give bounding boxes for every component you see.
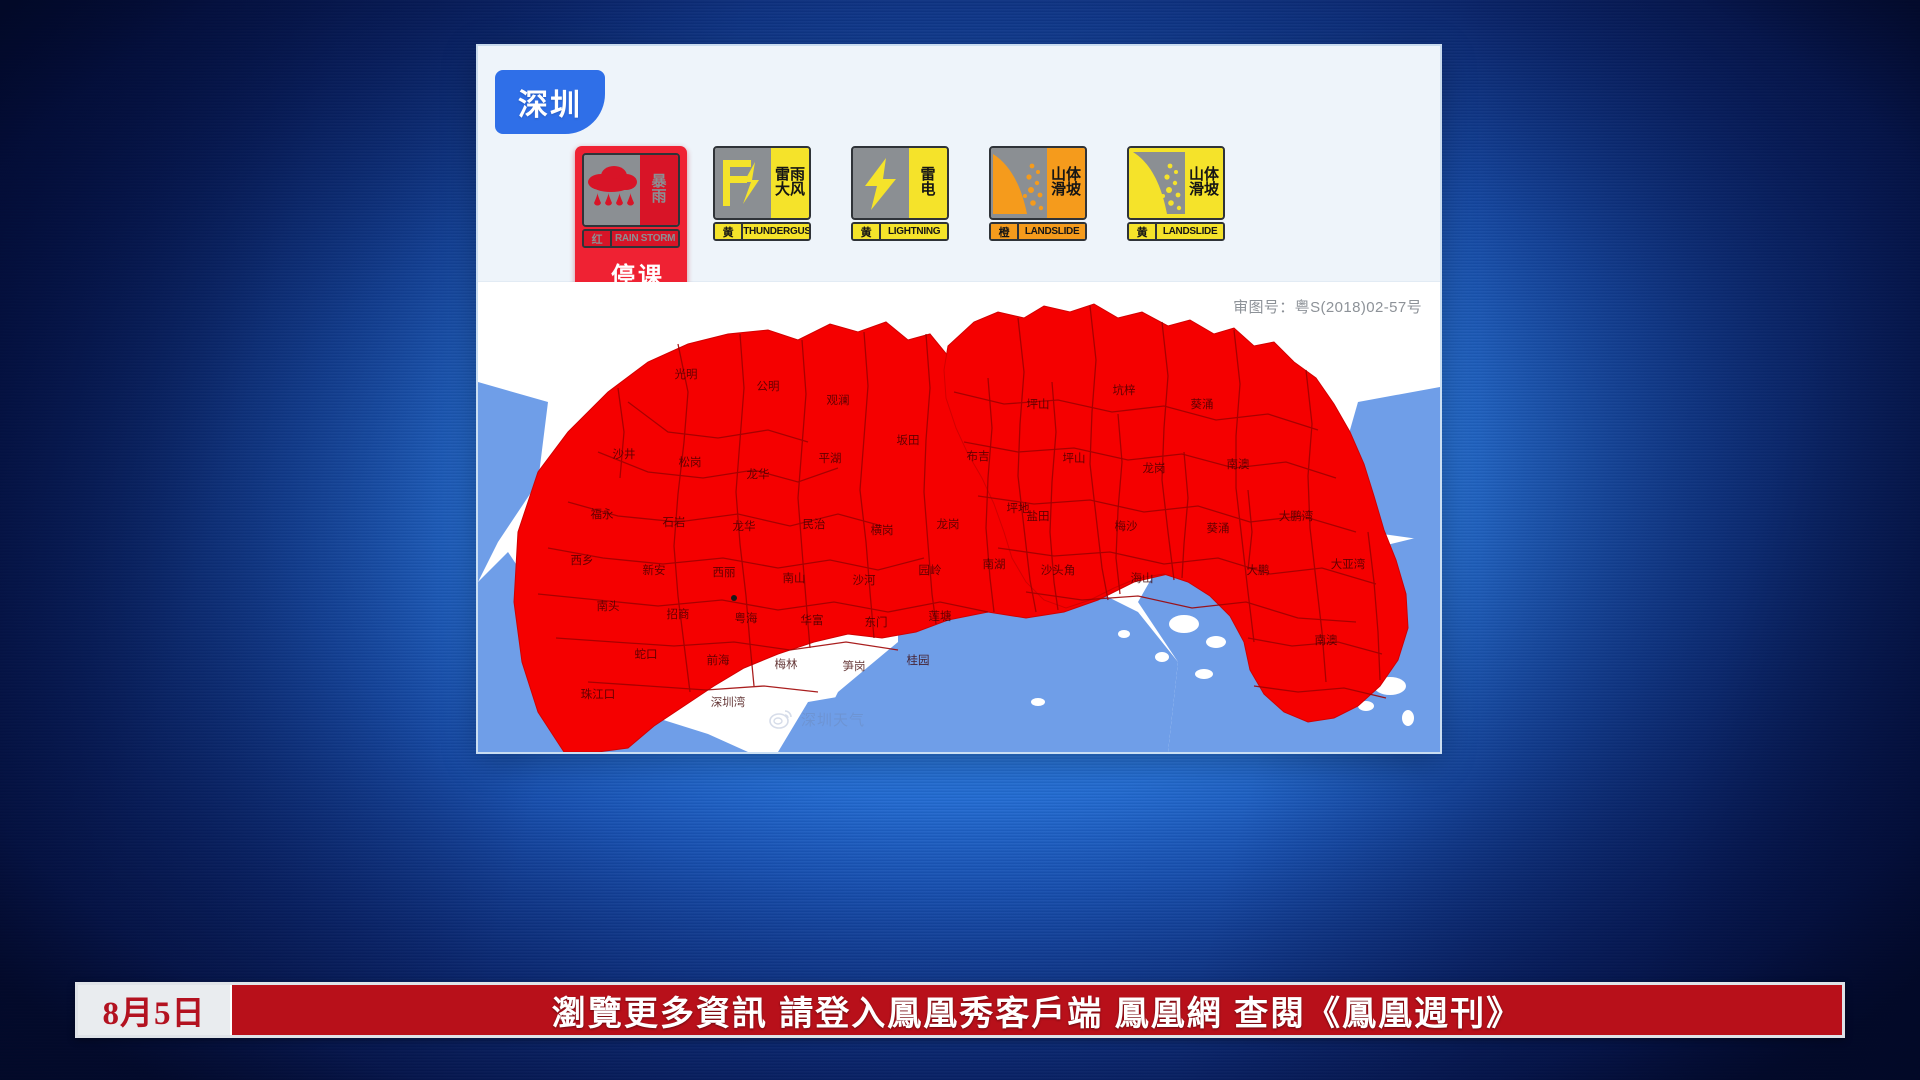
badge-footer: 橙 LANDSLIDE — [989, 222, 1087, 241]
badge-footer: 黄 LANDSLIDE — [1127, 222, 1225, 241]
svg-text:西丽: 西丽 — [713, 565, 736, 579]
svg-text:石岩: 石岩 — [663, 515, 686, 529]
svg-text:坑梓: 坑梓 — [1113, 383, 1136, 397]
rain-cloud-icon — [584, 155, 640, 225]
map-canvas: 光明 公明 观澜 沙井 松岗 龙华 平湖 坂田 布吉 福永 石岩 龙华 民治 横… — [478, 282, 1440, 752]
alert-badge-thundergust-yellow[interactable]: 雷 大 雨 风 黄 THUNDERGUST — [713, 146, 825, 241]
badge-name-line-2: 滑坡 — [1051, 183, 1081, 198]
badge-plate: 雷 电 — [851, 146, 949, 220]
thunder-gust-icon — [715, 148, 771, 218]
svg-text:招商: 招商 — [667, 607, 690, 621]
alert-badge-landslide-yellow[interactable]: 山体 滑坡 黄 LANDSLIDE — [1127, 146, 1239, 241]
svg-text:大亚湾: 大亚湾 — [1331, 557, 1366, 571]
badge-plate: 山体 滑坡 — [989, 146, 1087, 220]
badge-level-cn: 黄 — [853, 224, 881, 239]
svg-text:坪山: 坪山 — [1027, 397, 1050, 411]
svg-text:大鹏湾: 大鹏湾 — [1279, 509, 1314, 523]
badge-name-cn: 山体 滑坡 — [1047, 148, 1085, 218]
map-point-marker — [731, 595, 737, 601]
svg-text:民治: 民治 — [803, 517, 826, 531]
badge-level-en: LIGHTNING — [881, 224, 947, 239]
svg-text:坪山: 坪山 — [1063, 451, 1086, 465]
badge-level-en: RAIN STORM — [612, 231, 678, 246]
badge-level-cn: 黄 — [715, 224, 743, 239]
svg-text:粤海: 粤海 — [735, 611, 758, 625]
alert-badge-lightning-yellow[interactable]: 雷 电 黄 LIGHTNING — [851, 146, 963, 241]
lightning-bolt-icon — [853, 148, 909, 218]
badge-level-en: THUNDERGUST — [743, 224, 811, 239]
badge-plate: 山体 滑坡 — [1127, 146, 1225, 220]
badge-name-c12: 大 — [775, 183, 790, 198]
svg-text:沙井: 沙井 — [613, 447, 636, 461]
badge-name-cn: 雷 大 雨 风 — [771, 148, 809, 218]
landslide-icon — [991, 148, 1047, 218]
svg-text:笋岗: 笋岗 — [843, 659, 866, 673]
badge-name-cn: 暴 雨 — [640, 155, 678, 225]
svg-text:横岗: 横岗 — [871, 523, 894, 537]
landslide-icon — [1129, 148, 1185, 218]
svg-text:南澳: 南澳 — [1227, 457, 1250, 471]
svg-text:葵涌: 葵涌 — [1191, 397, 1214, 411]
svg-text:南湖: 南湖 — [983, 557, 1006, 571]
svg-text:沙头角: 沙头角 — [1041, 563, 1076, 577]
badge-footer: 红 RAIN STORM — [582, 229, 680, 248]
city-tab-label: 深圳 — [518, 80, 582, 124]
badge-name-c22: 风 — [790, 183, 805, 198]
svg-text:南山: 南山 — [783, 571, 806, 585]
badge-name-col-2: 雨 风 — [790, 168, 805, 197]
svg-text:大鹏: 大鹏 — [1247, 563, 1270, 577]
ticker-date-badge: 8月5日 — [78, 985, 230, 1035]
svg-text:龙岗: 龙岗 — [1143, 461, 1166, 475]
weibo-watermark: 深圳天气 — [768, 708, 865, 730]
svg-text:沙河: 沙河 — [853, 573, 876, 587]
warning-badge-row: 暴 雨 红 RAIN STORM 停课 — [575, 146, 1239, 293]
svg-text:莲塘: 莲塘 — [929, 609, 952, 623]
svg-text:观澜: 观澜 — [827, 393, 850, 407]
badge-name-col-1: 雷 大 — [775, 168, 790, 197]
svg-text:布吉: 布吉 — [967, 449, 990, 463]
alert-badge-rainstorm-red[interactable]: 暴 雨 红 RAIN STORM 停课 — [575, 146, 687, 293]
svg-text:梅林: 梅林 — [775, 657, 798, 671]
svg-text:蛇口: 蛇口 — [635, 647, 658, 661]
badge-footer: 黄 LIGHTNING — [851, 222, 949, 241]
svg-text:珠江口: 珠江口 — [581, 687, 616, 701]
badge-name-line-2: 电 — [920, 183, 935, 198]
svg-text:深圳湾: 深圳湾 — [711, 695, 746, 709]
alert-header: 深圳 — [478, 46, 1440, 282]
svg-text:龙岗: 龙岗 — [937, 517, 960, 531]
badge-level-cn: 红 — [584, 231, 612, 246]
svg-text:园岭: 园岭 — [919, 563, 942, 577]
badge-footer: 黄 THUNDERGUST — [713, 222, 811, 241]
weather-alert-card: 深圳 — [478, 46, 1440, 752]
svg-text:坂田: 坂田 — [897, 433, 920, 447]
svg-text:南头: 南头 — [597, 599, 620, 613]
svg-text:盐田: 盐田 — [1027, 509, 1050, 523]
svg-text:松岗: 松岗 — [679, 455, 702, 469]
badge-level-cn: 黄 — [1129, 224, 1157, 239]
svg-text:光明: 光明 — [675, 367, 698, 381]
badge-name-cn: 雷 电 — [909, 148, 947, 218]
svg-text:公明: 公明 — [757, 379, 780, 393]
badge-plate: 暴 雨 — [582, 153, 680, 227]
badge-level-cn: 橙 — [991, 224, 1019, 239]
svg-text:葵涌: 葵涌 — [1207, 521, 1230, 535]
svg-text:龙华: 龙华 — [733, 519, 756, 533]
svg-text:福永: 福永 — [591, 507, 614, 521]
badge-level-en: LANDSLIDE — [1157, 224, 1223, 239]
ticker-message: 瀏覽更多資訊 請登入鳳凰秀客戶端 鳳凰網 查閱《鳳凰週刊》 — [230, 985, 1842, 1035]
svg-text:平湖: 平湖 — [819, 451, 842, 465]
broadcast-backdrop: 深圳 — [0, 0, 1920, 1080]
shenzhen-district-map[interactable]: 审图号：粤S(2018)02-57号 — [478, 282, 1440, 752]
badge-plate: 雷 大 雨 风 — [713, 146, 811, 220]
svg-text:西乡: 西乡 — [571, 553, 594, 567]
weibo-logo-icon — [768, 708, 794, 730]
svg-text:梅沙: 梅沙 — [1115, 519, 1138, 533]
alert-badge-landslide-orange[interactable]: 山体 滑坡 橙 LANDSLIDE — [989, 146, 1101, 241]
svg-text:华富: 华富 — [801, 613, 824, 627]
watermark-text: 深圳天气 — [801, 709, 865, 730]
news-ticker-bar: 8月5日 瀏覽更多資訊 請登入鳳凰秀客戶端 鳳凰網 查閱《鳳凰週刊》 — [75, 982, 1845, 1038]
svg-text:南澳: 南澳 — [1315, 633, 1338, 647]
svg-text:前海: 前海 — [707, 653, 730, 667]
badge-name-cn: 山体 滑坡 — [1185, 148, 1223, 218]
city-tab-shenzhen[interactable]: 深圳 — [495, 70, 605, 134]
badge-level-en: LANDSLIDE — [1019, 224, 1085, 239]
svg-text:龙华: 龙华 — [747, 467, 770, 481]
svg-text:东门: 东门 — [865, 615, 888, 629]
badge-name-line-2: 滑坡 — [1189, 183, 1219, 198]
svg-text:新安: 新安 — [643, 563, 666, 577]
svg-text:海山: 海山 — [1131, 571, 1154, 585]
badge-name-line-2: 雨 — [651, 190, 666, 205]
svg-text:桂园: 桂园 — [907, 653, 930, 667]
